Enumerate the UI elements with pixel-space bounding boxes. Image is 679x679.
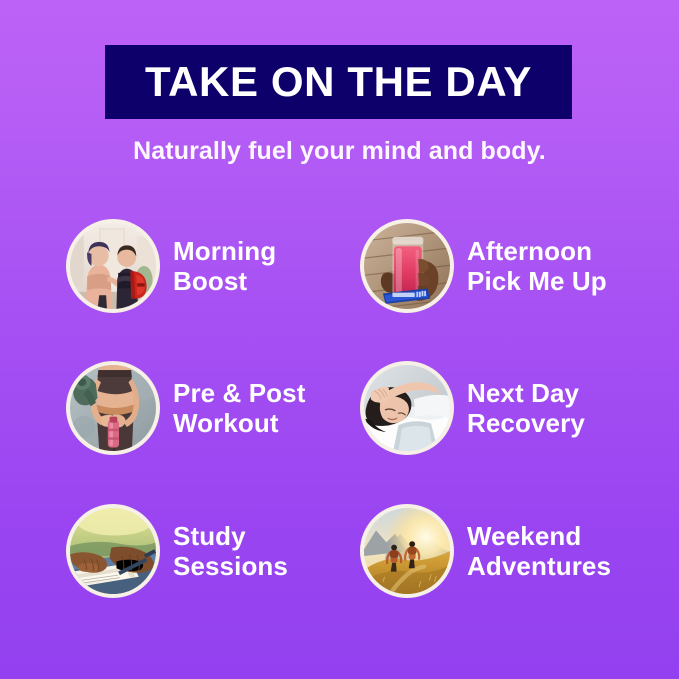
benefit-item-morning-boost: Morning Boost bbox=[66, 218, 366, 314]
promo-poster: TAKE ON THE DAY Naturally fuel your mind… bbox=[0, 0, 679, 679]
thumbnail-ring bbox=[360, 361, 454, 455]
thumbnail-ring bbox=[66, 219, 160, 313]
thumbnail-ring bbox=[360, 219, 454, 313]
benefit-label: Morning Boost bbox=[173, 236, 276, 297]
headline-banner: TAKE ON THE DAY bbox=[105, 45, 572, 119]
woman-resting-in-bed-photo bbox=[364, 365, 450, 451]
benefit-label: Afternoon Pick Me Up bbox=[467, 236, 607, 297]
page-title: TAKE ON THE DAY bbox=[145, 61, 532, 103]
hands-writing-notebook-photo bbox=[70, 508, 156, 594]
thumbnail-ring bbox=[66, 504, 160, 598]
benefit-label: Pre & Post Workout bbox=[173, 378, 306, 439]
woman-yoga-mat-water-bottle-photo bbox=[70, 365, 156, 451]
benefit-item-afternoon-pick-me-up: Afternoon Pick Me Up bbox=[360, 218, 660, 314]
benefit-label: Study Sessions bbox=[173, 521, 288, 582]
benefit-item-study-sessions: Study Sessions bbox=[66, 503, 366, 599]
hand-holding-pink-drink-photo bbox=[364, 223, 450, 309]
benefit-item-weekend-adventures: Weekend Adventures bbox=[360, 503, 660, 599]
benefit-label: Next Day Recovery bbox=[467, 378, 585, 439]
parent-child-backpack-photo bbox=[70, 223, 156, 309]
subtitle: Naturally fuel your mind and body. bbox=[0, 136, 679, 166]
benefit-label: Weekend Adventures bbox=[467, 521, 611, 582]
benefit-item-next-day-recovery: Next Day Recovery bbox=[360, 360, 660, 456]
thumbnail-ring bbox=[66, 361, 160, 455]
hikers-sunset-mountain-photo bbox=[364, 508, 450, 594]
benefits-grid: Morning Boost bbox=[0, 218, 679, 618]
benefit-item-pre-post-workout: Pre & Post Workout bbox=[66, 360, 366, 456]
thumbnail-ring bbox=[360, 504, 454, 598]
